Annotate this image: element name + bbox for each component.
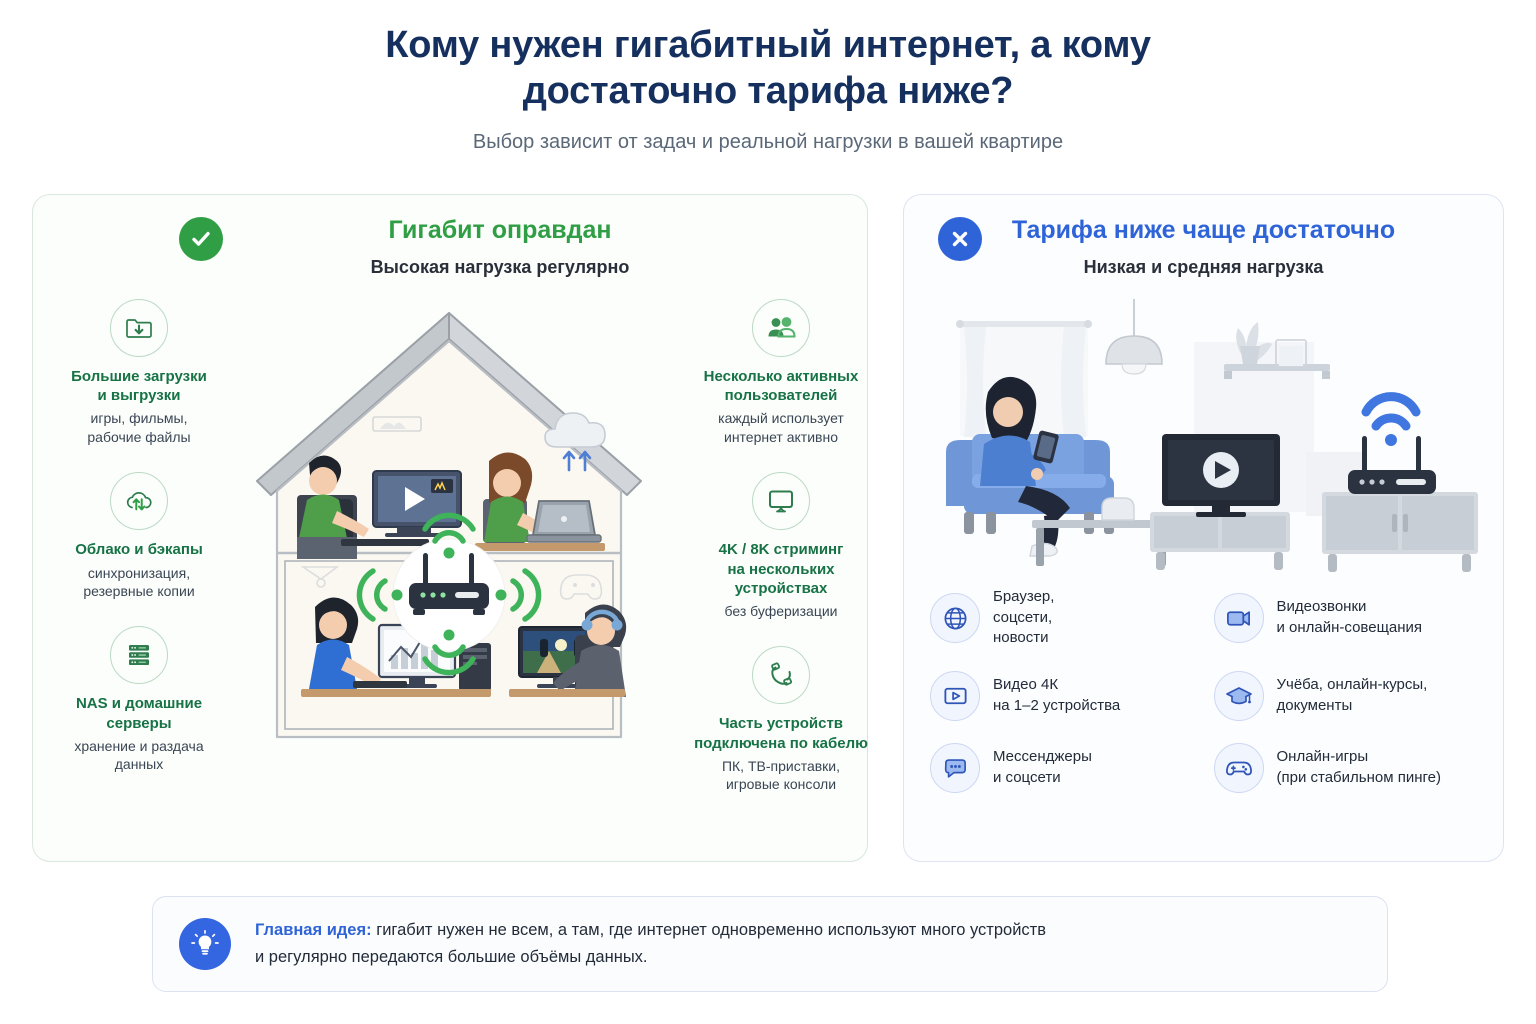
feature-desc: каждый использует интернет активно: [683, 409, 879, 446]
globe-icon: [930, 593, 980, 643]
check-circle-icon: [179, 217, 223, 261]
right-panel-title: Тарифа ниже чаще достаточно: [904, 217, 1503, 245]
key-idea-lead: Главная идея:: [255, 921, 372, 939]
item-browser-social-news: Браузер, соцсети, новости: [930, 587, 1200, 649]
right-features-column: Несколько активных пользователей каждый …: [683, 293, 879, 820]
item-video-4k: Видео 4К на 1–2 устройства: [930, 671, 1200, 721]
item-study-courses: Учёба, онлайн-курсы, документы: [1214, 671, 1484, 721]
left-panel-title: Гигабит оправдан: [133, 217, 867, 245]
item-label: Браузер, соцсети, новости: [993, 587, 1054, 649]
key-idea-callout: Главная идея: гигабит нужен не всем, а т…: [152, 896, 1388, 992]
key-idea-line1: гигабит нужен не всем, а там, где интерн…: [372, 921, 1046, 939]
key-idea-text: Главная идея: гигабит нужен не всем, а т…: [255, 917, 1046, 970]
lightbulb-icon: [179, 918, 231, 970]
page-subtitle: Выбор зависит от задач и реальной нагруз…: [0, 131, 1536, 154]
living-room-illustration: [904, 284, 1503, 574]
feature-title: Большие загрузки и выгрузки: [41, 367, 237, 405]
feature-desc: синхронизация, резервные копии: [41, 564, 237, 601]
feature-title: 4K / 8K стриминг на нескольких устройств…: [683, 540, 879, 598]
folder-download-icon: [110, 299, 168, 357]
item-online-games: Онлайн-игры (при стабильном пинге): [1214, 743, 1484, 793]
panel-lower-tariff-enough: Тарифа ниже чаще достаточно Низкая и сре…: [903, 194, 1504, 862]
feature-desc: игры, фильмы, рабочие файлы: [41, 409, 237, 446]
item-video-calls: Видеозвонки и онлайн-совещания: [1214, 587, 1484, 649]
feature-multiple-users: Несколько активных пользователей каждый …: [683, 299, 879, 446]
chat-bubble-icon: [930, 743, 980, 793]
play-box-icon: [930, 671, 980, 721]
feature-title: Часть устройств подключена по кабелю: [683, 714, 879, 752]
page-header: Кому нужен гигабитный интернет, а кому д…: [0, 0, 1536, 154]
feature-nas-home-servers: NAS и домашние серверы хранение и раздач…: [41, 626, 237, 773]
users-group-icon: [752, 299, 810, 357]
graduation-cap-icon: [1214, 671, 1264, 721]
item-label: Учёба, онлайн-курсы, документы: [1277, 675, 1428, 716]
left-panel-body: Большие загрузки и выгрузки игры, фильмы…: [33, 293, 867, 861]
monitor-icon: [752, 472, 810, 530]
feature-wired-devices: Часть устройств подключена по кабелю ПК,…: [683, 646, 879, 793]
feature-title: NAS и домашние серверы: [41, 694, 237, 732]
gamepad-icon: [1214, 743, 1264, 793]
item-messengers: Мессенджеры и соцсети: [930, 743, 1200, 793]
feature-big-downloads: Большие загрузки и выгрузки игры, фильмы…: [41, 299, 237, 446]
feature-cloud-backups: Облако и бэкапы синхронизация, резервные…: [41, 472, 237, 600]
panel-gigabit-justified: Гигабит оправдан Высокая нагрузка регуля…: [32, 194, 868, 862]
feature-title: Облако и бэкапы: [41, 540, 237, 559]
feature-4k-8k-streaming: 4K / 8K стриминг на нескольких устройств…: [683, 472, 879, 620]
right-panel-subtitle: Низкая и средняя нагрузка: [904, 257, 1503, 278]
feature-desc: ПК, ТВ-приставки, игровые консоли: [683, 757, 879, 794]
infographic-page: Кому нужен гигабитный интернет, а кому д…: [0, 0, 1536, 1024]
key-idea-line2: и регулярно передаются большие объёмы да…: [255, 948, 648, 966]
feature-desc: без буферизации: [683, 602, 879, 620]
comparison-panels: Гигабит оправдан Высокая нагрузка регуля…: [32, 194, 1504, 862]
page-title: Кому нужен гигабитный интернет, а кому д…: [0, 22, 1536, 115]
left-features-column: Большие загрузки и выгрузки игры, фильмы…: [41, 293, 237, 800]
left-panel-header: Гигабит оправдан Высокая нагрузка регуля…: [33, 195, 867, 278]
x-circle-icon: [938, 217, 982, 261]
cloud-sync-icon: [110, 472, 168, 530]
video-call-icon: [1214, 593, 1264, 643]
server-stack-icon: [110, 626, 168, 684]
feature-title: Несколько активных пользователей: [683, 367, 879, 405]
right-panel-items: Браузер, соцсети, новости Видеозвонки: [930, 587, 1483, 793]
item-label: Мессенджеры и соцсети: [993, 747, 1092, 788]
right-panel-header: Тарифа ниже чаще достаточно Низкая и сре…: [904, 195, 1503, 278]
item-label: Онлайн-игры (при стабильном пинге): [1277, 747, 1441, 788]
item-label: Видео 4К на 1–2 устройства: [993, 675, 1120, 716]
house-cutaway-illustration: [237, 293, 677, 765]
feature-desc: хранение и раздача данных: [41, 737, 237, 774]
left-panel-subtitle: Высокая нагрузка регулярно: [133, 257, 867, 278]
page-title-line2: достаточно тарифа ниже?: [0, 68, 1536, 114]
page-title-line1: Кому нужен гигабитный интернет, а кому: [385, 24, 1151, 66]
item-label: Видеозвонки и онлайн-совещания: [1277, 597, 1423, 638]
ethernet-cable-icon: [752, 646, 810, 704]
